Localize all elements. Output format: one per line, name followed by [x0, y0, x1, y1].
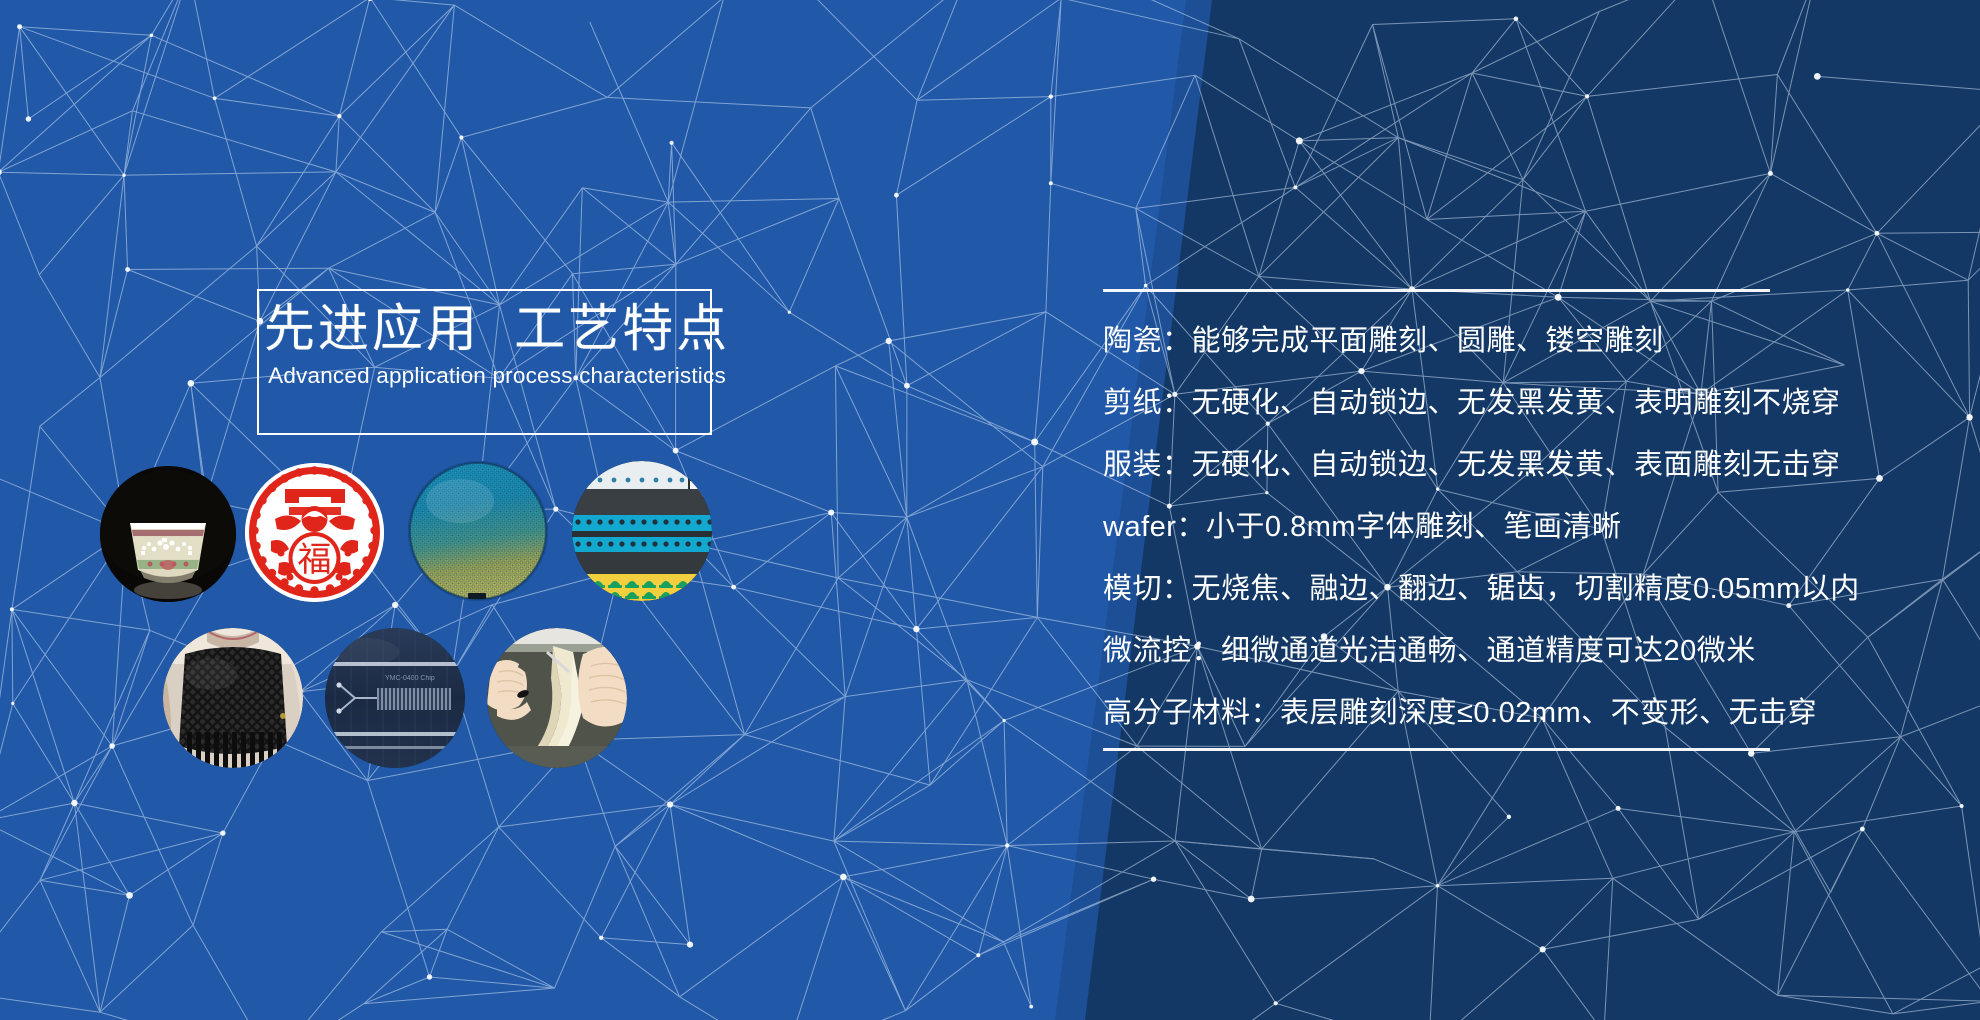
page-subtitle: Advanced application process characteris… — [227, 363, 767, 389]
feature-item-microfluidic: 微流控：细微通道光洁通畅、通道精度可达20微米 — [1103, 620, 1933, 682]
gallery-circle-ceramic-bowl[interactable] — [100, 466, 236, 602]
gallery-circle-polymer-film-peel[interactable] — [487, 628, 627, 768]
title-block: 先进应用 工艺特点 Advanced application process c… — [227, 300, 767, 389]
feature-item-diecut: 模切：无烧焦、融边、翻边、锯齿，切割精度0.05mm以内 — [1103, 558, 1933, 620]
feature-divider-top — [1103, 289, 1770, 292]
feature-item-polymer: 高分子材料：表层雕刻深度≤0.02mm、不变形、无击穿 — [1103, 682, 1933, 744]
gallery-circle-silicon-wafer[interactable] — [408, 461, 548, 601]
feature-item-papercut: 剪纸：无硬化、自动锁边、无发黑发黄、表明雕刻不烧穿 — [1103, 372, 1933, 434]
feature-list: 陶瓷：能够完成平面雕刻、圆雕、镂空雕刻 剪纸：无硬化、自动锁边、无发黑发黄、表明… — [1103, 310, 1933, 744]
page-title: 先进应用 工艺特点 — [227, 300, 767, 357]
gallery-circle-papercut-fu[interactable]: 福 — [245, 463, 384, 602]
gallery-circle-laser-cut-garment[interactable] — [163, 628, 303, 768]
feature-divider-bottom — [1103, 748, 1770, 751]
gallery-circle-microfluidic-film[interactable] — [572, 461, 712, 601]
svg-text:福: 福 — [298, 540, 332, 580]
gallery-circle-microfluidic-chip[interactable]: YMC-0400 Chip — [325, 628, 465, 768]
feature-item-apparel: 服装：无硬化、自动锁边、无发黑发黄、表面雕刻无击穿 — [1103, 434, 1933, 496]
feature-item-wafer: wafer：小于0.8mm字体雕刻、笔画清晰 — [1103, 496, 1933, 558]
slide-root: 先进应用 工艺特点 Advanced application process c… — [0, 0, 1980, 1020]
feature-item-ceramic: 陶瓷：能够完成平面雕刻、圆雕、镂空雕刻 — [1103, 310, 1933, 372]
svg-text:YMC-0400 Chip: YMC-0400 Chip — [385, 675, 435, 682]
